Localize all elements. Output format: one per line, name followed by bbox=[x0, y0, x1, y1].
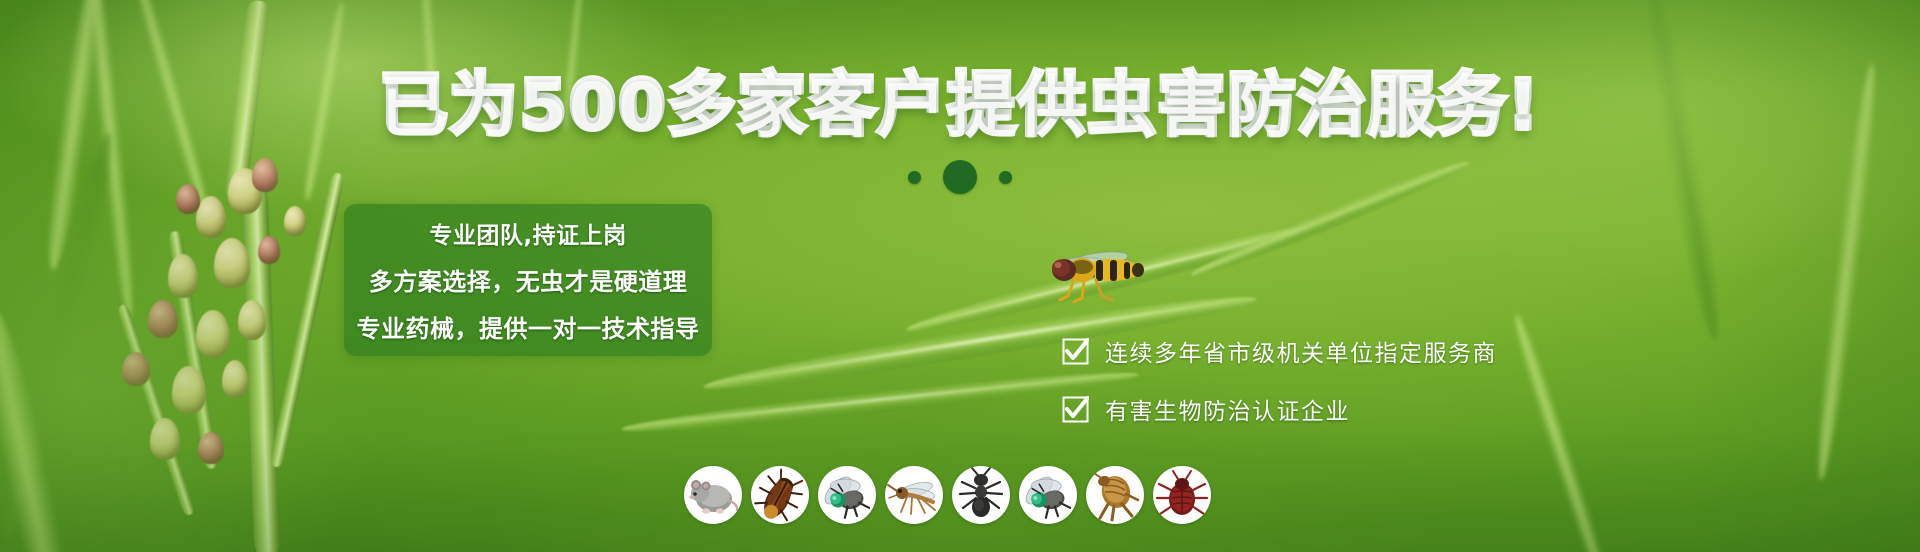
pest-icon-row bbox=[684, 466, 1211, 524]
dot-large-center bbox=[943, 160, 977, 194]
panel-line-1: 专业团队,持证上岗 bbox=[429, 216, 626, 250]
rodent-icon[interactable] bbox=[684, 466, 742, 524]
hoverfly-icon bbox=[1040, 244, 1160, 304]
check-box-icon bbox=[1062, 396, 1089, 423]
message-panel: 专业团队,持证上岗 多方案选择，无虫才是硬道理 专业药械，提供一对一技术指导 bbox=[344, 204, 712, 356]
dot-small-left bbox=[908, 171, 921, 184]
dot-small-right bbox=[999, 171, 1012, 184]
fly-icon[interactable] bbox=[818, 466, 876, 524]
panel-line-3: 专业药械，提供一对一技术指导 bbox=[357, 309, 700, 344]
checklist-item-label: 有害生物防治认证企业 bbox=[1105, 392, 1350, 426]
bedbug-icon[interactable] bbox=[1153, 466, 1211, 524]
ant-icon[interactable] bbox=[952, 466, 1010, 524]
panel-line-2: 多方案选择，无虫才是硬道理 bbox=[369, 262, 688, 297]
check-box-icon bbox=[1062, 338, 1089, 365]
mosquito-icon[interactable] bbox=[885, 466, 943, 524]
housefly-icon[interactable] bbox=[1019, 466, 1077, 524]
checklist-item: 有害生物防治认证企业 bbox=[1062, 392, 1497, 426]
flea-icon[interactable] bbox=[1086, 466, 1144, 524]
checklist-item-label: 连续多年省市级机关单位指定服务商 bbox=[1105, 334, 1497, 368]
banner-headline: 已为500多家客户提供虫害防治服务! bbox=[0, 72, 1920, 140]
banner-headline-text: 已为500多家客户提供虫害防治服务! bbox=[380, 66, 1541, 145]
decorative-dots bbox=[0, 160, 1920, 194]
credentials-checklist: 连续多年省市级机关单位指定服务商 有害生物防治认证企业 bbox=[1062, 334, 1497, 426]
checklist-item: 连续多年省市级机关单位指定服务商 bbox=[1062, 334, 1497, 368]
cockroach-icon[interactable] bbox=[751, 466, 809, 524]
pest-control-banner: 已为500多家客户提供虫害防治服务! 专业团队,持证上岗 多方案选择，无虫才是硬… bbox=[0, 0, 1920, 552]
